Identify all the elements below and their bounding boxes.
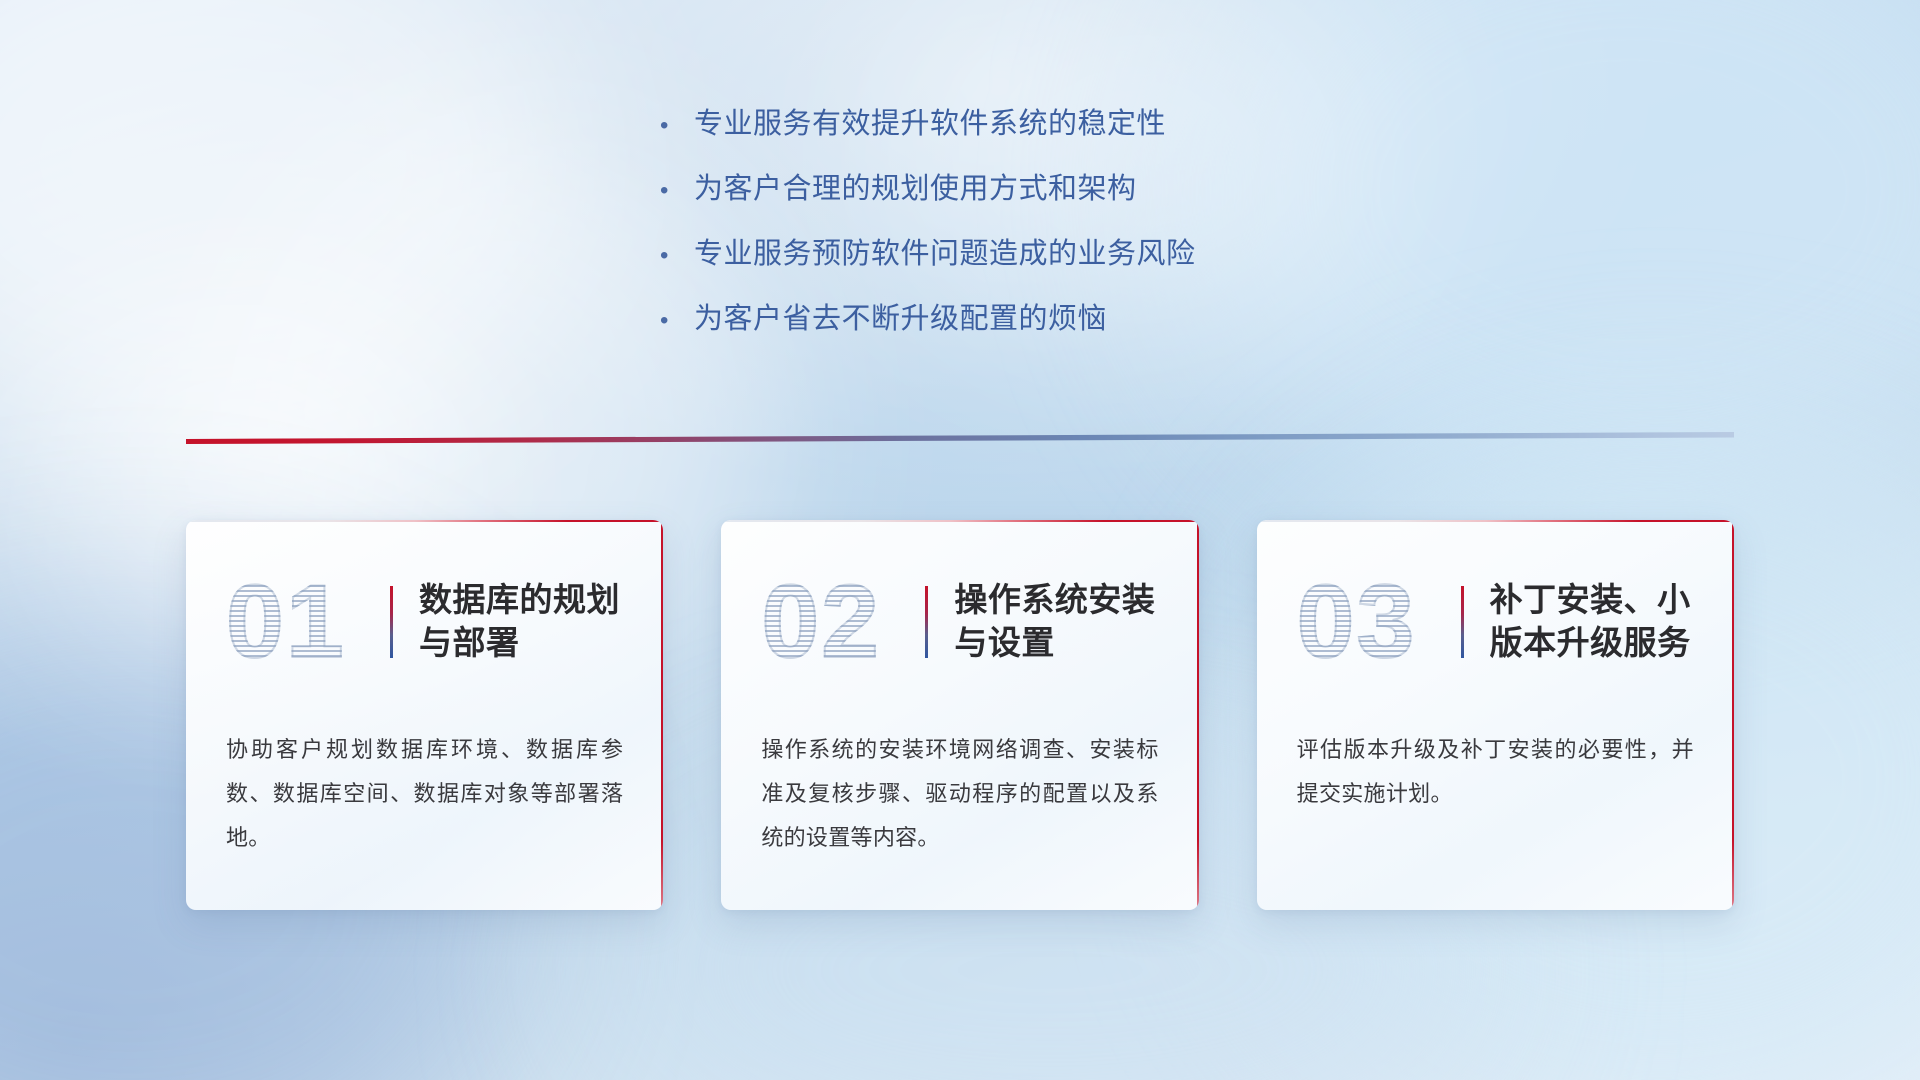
card-header: 01 数据库的规划与部署	[226, 562, 623, 682]
card-title: 数据库的规划与部署	[419, 579, 623, 665]
card-description: 协助客户规划数据库环境、数据库参数、数据库空间、数据库对象等部署落地。	[226, 728, 623, 860]
bullet-marker-icon: •	[660, 309, 694, 333]
bullet-marker-icon: •	[660, 114, 694, 138]
section-divider	[186, 432, 1734, 444]
card-accent-bar	[925, 586, 928, 658]
bullet-text: 专业服务预防软件问题造成的业务风险	[694, 235, 1196, 274]
bullet-text: 为客户合理的规划使用方式和架构	[694, 170, 1137, 209]
service-card[interactable]: 01 数据库的规划与部署 协助客户规划数据库环境、数据库参数、数据库空间、数据库…	[186, 520, 663, 910]
list-item: • 专业服务预防软件问题造成的业务风险	[660, 235, 1480, 274]
bullet-marker-icon: •	[660, 179, 694, 203]
card-number: 02	[761, 570, 919, 674]
divider-rule	[186, 432, 1734, 444]
card-description: 操作系统的安装环境网络调查、安装标准及复核步骤、驱动程序的配置以及系统的设置等内…	[761, 728, 1158, 860]
service-card-group: 01 数据库的规划与部署 协助客户规划数据库环境、数据库参数、数据库空间、数据库…	[186, 520, 1734, 910]
benefits-bullet-list: • 专业服务有效提升软件系统的稳定性 • 为客户合理的规划使用方式和架构 • 专…	[660, 105, 1480, 366]
card-header: 03 补丁安装、小版本升级服务	[1297, 562, 1694, 682]
service-card[interactable]: 02 操作系统安装与设置 操作系统的安装环境网络调查、安装标准及复核步骤、驱动程…	[721, 520, 1198, 910]
bullet-text: 专业服务有效提升软件系统的稳定性	[694, 105, 1166, 144]
list-item: • 为客户合理的规划使用方式和架构	[660, 170, 1480, 209]
card-number: 01	[226, 570, 384, 674]
list-item: • 为客户省去不断升级配置的烦恼	[660, 300, 1480, 339]
slide-canvas: • 专业服务有效提升软件系统的稳定性 • 为客户合理的规划使用方式和架构 • 专…	[0, 0, 1920, 1080]
bullet-text: 为客户省去不断升级配置的烦恼	[694, 300, 1107, 339]
card-header: 02 操作系统安装与设置	[761, 562, 1158, 682]
background-glow-1	[0, 0, 580, 440]
service-card[interactable]: 03 补丁安装、小版本升级服务 评估版本升级及补丁安装的必要性，并提交实施计划。	[1257, 520, 1734, 910]
card-description: 评估版本升级及补丁安装的必要性，并提交实施计划。	[1297, 728, 1694, 816]
list-item: • 专业服务有效提升软件系统的稳定性	[660, 105, 1480, 144]
card-number: 03	[1297, 570, 1455, 674]
card-title: 补丁安装、小版本升级服务	[1490, 579, 1694, 665]
card-accent-bar	[1461, 586, 1464, 658]
card-accent-bar	[390, 586, 393, 658]
bullet-marker-icon: •	[660, 244, 694, 268]
card-title: 操作系统安装与设置	[954, 579, 1158, 665]
